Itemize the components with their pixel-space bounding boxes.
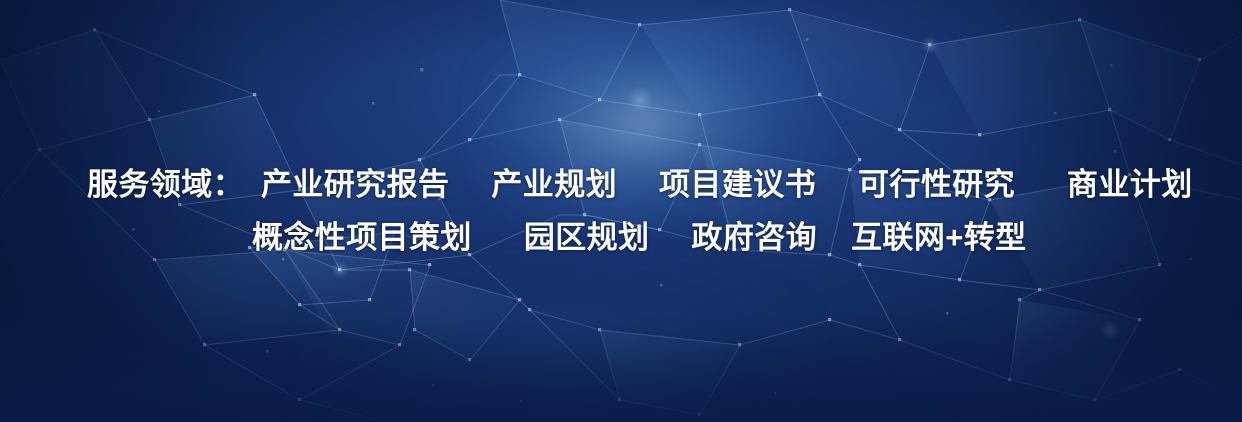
background-bottom-fade xyxy=(0,312,1242,422)
service-item-business-plan: 商业计划 xyxy=(1067,158,1193,211)
service-domains-text-block: 服务领域： 产业研究报告 产业规划 项目建议书 可行性研究 商业计划 概念性项目… xyxy=(0,158,1242,264)
service-item-conceptual-project-planning: 概念性项目策划 xyxy=(252,211,472,264)
service-item-industry-research-report: 产业研究报告 xyxy=(261,158,449,211)
service-item-government-consulting: 政府咨询 xyxy=(691,211,817,264)
service-line-1: 服务领域： 产业研究报告 产业规划 项目建议书 可行性研究 商业计划 xyxy=(0,158,1242,211)
service-domains-label: 服务领域： xyxy=(87,158,244,211)
service-item-park-planning: 园区规划 xyxy=(524,211,650,264)
service-item-feasibility-study: 可行性研究 xyxy=(858,158,1015,211)
service-item-industry-planning: 产业规划 xyxy=(491,158,617,211)
service-item-internet-plus-transformation: 互联网+转型 xyxy=(851,211,1027,264)
service-item-project-proposal: 项目建议书 xyxy=(659,158,816,211)
service-line-2: 概念性项目策划 园区规划 政府咨询 互联网+转型 xyxy=(0,211,1242,264)
service-domains-banner: 服务领域： 产业研究报告 产业规划 项目建议书 可行性研究 商业计划 概念性项目… xyxy=(0,0,1242,422)
